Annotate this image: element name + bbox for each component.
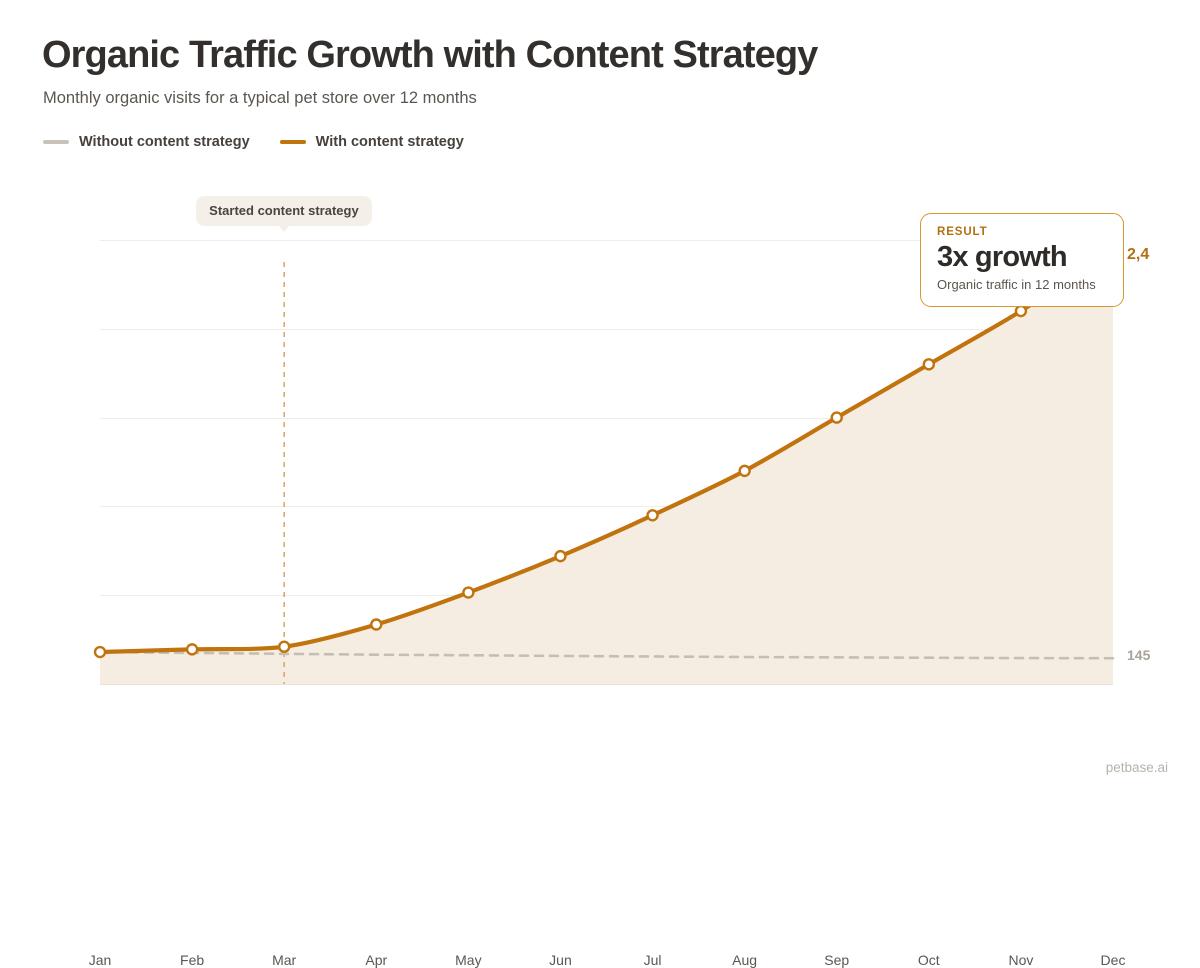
data-point-marker[interactable]	[740, 466, 750, 476]
end-value-label-without: 145	[1127, 647, 1150, 663]
data-point-marker[interactable]	[648, 510, 658, 520]
data-point-marker[interactable]	[832, 413, 842, 423]
x-axis-tick-label: Apr	[336, 952, 416, 968]
watermark: petbase.ai	[1106, 760, 1168, 775]
data-point-marker[interactable]	[279, 642, 289, 652]
x-axis-tick-label: May	[428, 952, 508, 968]
end-value-label-with: 2,4	[1127, 246, 1149, 264]
x-axis-tick-label: Dec	[1073, 952, 1153, 968]
x-axis-tick-label: Jul	[613, 952, 693, 968]
x-axis-tick-label: Jun	[520, 952, 600, 968]
chart-page: { "header": { "title": "Organic Traffic …	[0, 0, 1200, 800]
result-subtext: Organic traffic in 12 months	[937, 277, 1107, 292]
result-eyebrow: RESULT	[937, 226, 1107, 238]
x-axis-tick-label: Oct	[889, 952, 969, 968]
x-axis-tick-label: Mar	[244, 952, 324, 968]
data-point-marker[interactable]	[555, 551, 565, 561]
x-axis-tick-label: Aug	[705, 952, 785, 968]
data-point-marker[interactable]	[371, 620, 381, 630]
data-point-marker[interactable]	[187, 644, 197, 654]
series-layer	[0, 0, 1200, 800]
x-axis-tick-label: Nov	[981, 952, 1061, 968]
data-point-marker[interactable]	[95, 647, 105, 657]
x-axis-tick-label: Jan	[60, 952, 140, 968]
data-point-marker[interactable]	[924, 359, 934, 369]
area-fill-with-strategy	[100, 249, 1113, 684]
data-point-marker[interactable]	[463, 588, 473, 598]
x-axis-tick-label: Feb	[152, 952, 232, 968]
x-axis-tick-label: Sep	[797, 952, 877, 968]
result-callout: RESULT 3x growth Organic traffic in 12 m…	[920, 213, 1124, 307]
data-point-marker[interactable]	[1016, 306, 1026, 316]
result-headline: 3x growth	[937, 241, 1107, 273]
event-annotation-pill: Started content strategy	[196, 196, 372, 226]
